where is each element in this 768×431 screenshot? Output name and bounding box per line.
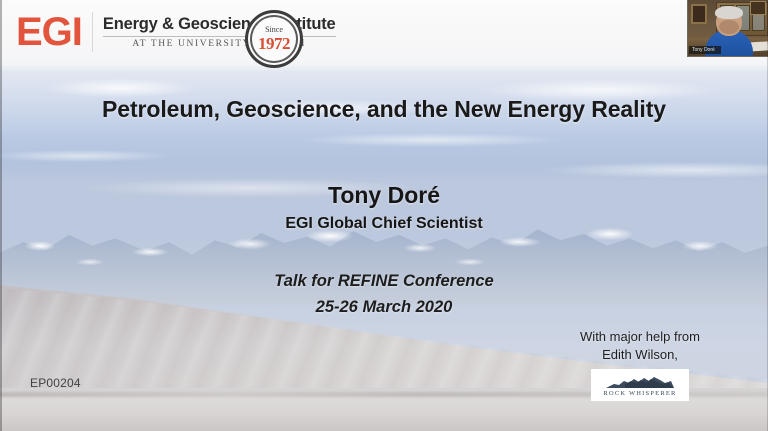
speaker-role: EGI Global Chief Scientist	[0, 215, 768, 233]
webcam-face-shading	[719, 20, 739, 34]
speaker-name: Tony Doré	[0, 182, 768, 209]
since-1972-seal-icon: Since 1972	[245, 10, 303, 68]
webcam-picture-frame-right	[750, 1, 766, 15]
credit-line-2: Edith Wilson,	[550, 346, 730, 364]
event-name: Talk for REFINE Conference	[0, 272, 768, 291]
watermark: EP00204	[30, 376, 81, 390]
rock-whisperer-wordmark: ROCK WHISPERER	[603, 390, 676, 397]
webcam-participant-hair	[715, 6, 743, 19]
seal-since-label: Since	[265, 26, 283, 34]
slide-title: Petroleum, Geoscience, and the New Energ…	[0, 96, 768, 123]
presentation-slide: EGI Energy & Geoscience Institute AT THE…	[0, 0, 768, 431]
credit-block: With major help from Edith Wilson, ROCK …	[550, 328, 730, 401]
webcam-participant-name: Tony Doré	[689, 46, 721, 54]
webcam-picture-frame-left	[691, 4, 707, 24]
credit-line-1: With major help from	[550, 328, 730, 346]
mountain-silhouette-icon	[605, 375, 675, 389]
logo-divider	[92, 12, 93, 52]
event-date: 25-26 March 2020	[0, 298, 768, 317]
webcam-video-inset[interactable]: Tony Doré	[687, 0, 768, 57]
rock-whisperer-logo: ROCK WHISPERER	[591, 369, 689, 401]
egi-wordmark: EGI	[16, 12, 90, 52]
header-band: EGI Energy & Geoscience Institute AT THE…	[0, 0, 768, 72]
seal-year: 1972	[258, 35, 290, 52]
